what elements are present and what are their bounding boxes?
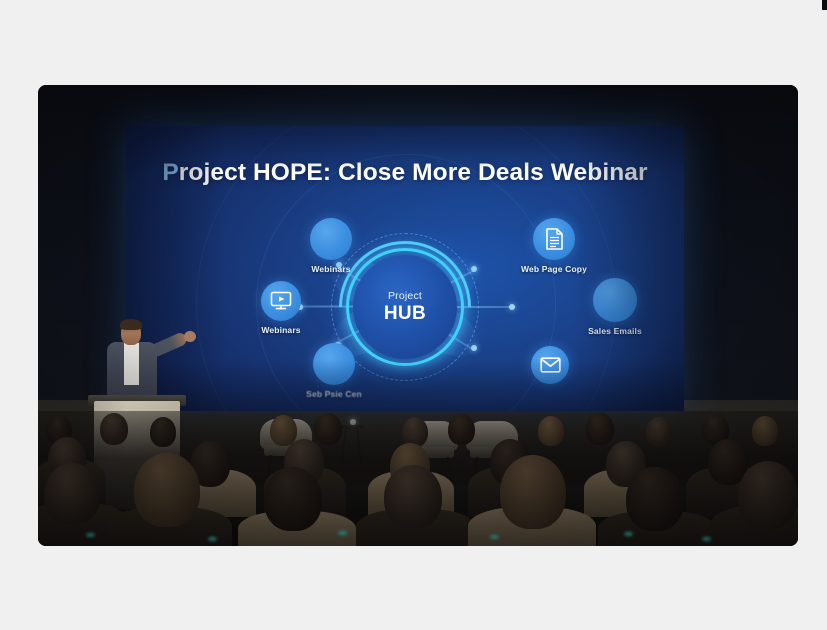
- audience-head: [752, 416, 778, 446]
- node-label: Webinars: [236, 325, 326, 335]
- node-web-page-copy-bottom: Seb Psie Cen: [288, 343, 380, 399]
- node-circle: [261, 281, 301, 321]
- audience-head: [586, 413, 614, 445]
- slide-title-accent: P: [162, 159, 178, 186]
- audience-head: [448, 414, 475, 445]
- hub-label-small: Project: [388, 290, 422, 302]
- audience-head: [264, 467, 322, 531]
- audience: [38, 411, 798, 546]
- audience-head: [646, 417, 672, 447]
- hub-label-big: HUB: [384, 303, 426, 325]
- node-label: Web Page Copy: [504, 264, 604, 274]
- envelope-icon: [540, 357, 561, 373]
- corner-notch: [822, 0, 827, 10]
- seat-glint: [338, 531, 347, 535]
- node-email: [510, 346, 590, 388]
- seat-glint: [86, 533, 95, 537]
- projection-screen: Project HOPE: Close More Deals Webinar P…: [126, 126, 684, 411]
- slide-title: Project HOPE: Close More Deals Webinar: [126, 159, 684, 187]
- audience-head: [44, 463, 100, 525]
- audience-head: [100, 413, 128, 445]
- node-webinars-top: Webinars: [286, 218, 376, 274]
- audience-head: [500, 455, 566, 529]
- speaker-shirt: [124, 343, 139, 385]
- audience-head: [134, 453, 200, 527]
- audience-head: [314, 413, 342, 445]
- node-circle: [533, 218, 575, 260]
- node-circle: [310, 218, 352, 260]
- speaker-hand: [184, 331, 196, 342]
- node-webinars-left: Webinars: [236, 281, 326, 335]
- conference-webinar-presentation-photo: Project HOPE: Close More Deals Webinar P…: [38, 85, 798, 546]
- node-circle: [313, 343, 355, 385]
- node-label: Seb Psie Cen: [288, 389, 380, 399]
- seat-glint: [702, 537, 711, 541]
- connector-dot: [509, 304, 515, 310]
- slide-title-rest: roject HOPE: Close More Deals Webinar: [179, 159, 648, 186]
- speaker-hair: [120, 319, 142, 330]
- node-circle: [531, 346, 569, 384]
- audience-head: [626, 467, 684, 531]
- node-label: Webinars: [286, 264, 376, 274]
- document-icon: [544, 228, 564, 250]
- audience-head: [538, 416, 564, 446]
- node-label: Sales Emails: [569, 326, 661, 336]
- node-sales-emails: Sales Emails: [569, 278, 661, 336]
- node-web-page-copy-top: Web Page Copy: [504, 218, 604, 274]
- seat-glint: [490, 535, 499, 539]
- monitor-play-icon: [270, 291, 292, 311]
- audience-head: [738, 461, 798, 529]
- audience-head: [150, 417, 176, 447]
- seat-glint: [624, 532, 633, 536]
- audience-head: [384, 465, 442, 529]
- node-circle: [593, 278, 637, 322]
- seat-glint: [208, 537, 217, 541]
